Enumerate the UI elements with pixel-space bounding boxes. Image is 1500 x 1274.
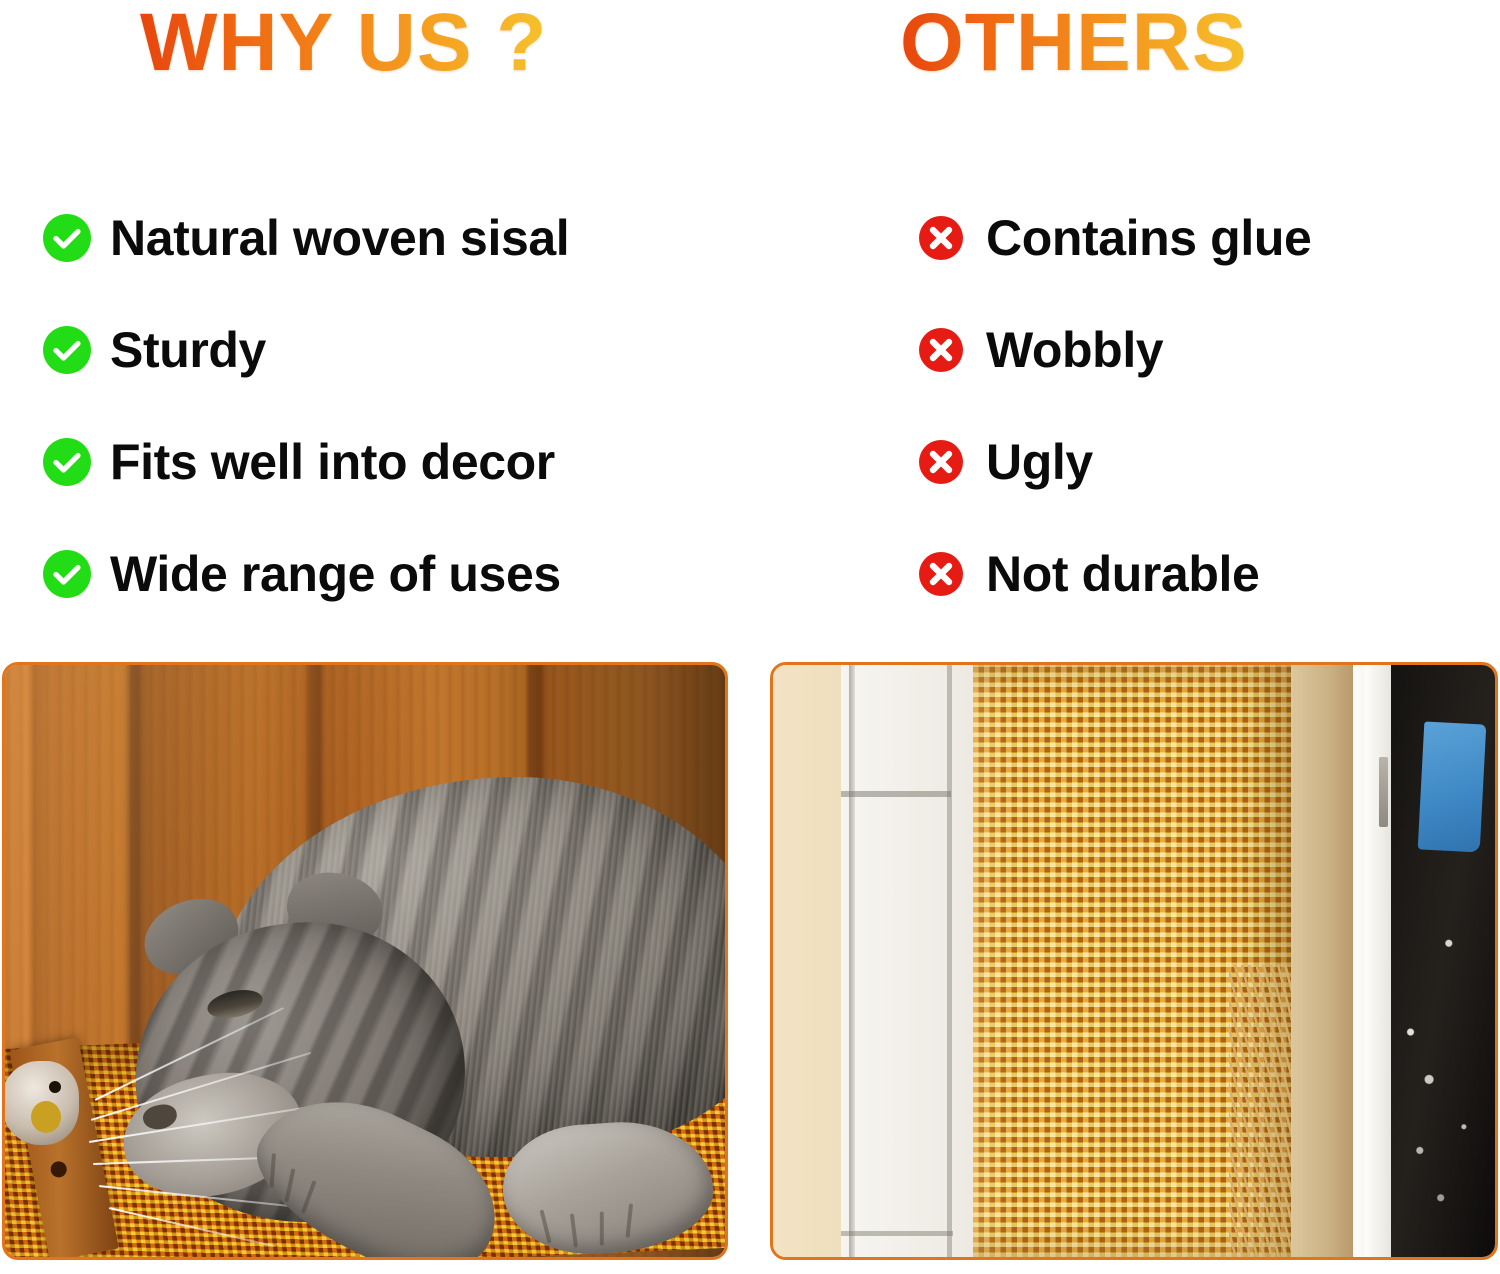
list-item: Ugly [918,406,1311,518]
list-item-label: Wide range of uses [110,549,561,599]
door-hinge [1379,757,1388,827]
cat [65,723,725,1257]
cream-wall [773,665,841,1257]
door-seam-vertical [849,665,855,1257]
list-item-label: Wobbly [986,325,1163,375]
comparison-infographic: WHY US ? Natural woven sisal Sturdy [0,0,1500,1274]
x-circle-icon [918,327,964,373]
list-item: Fits well into decor [42,406,569,518]
x-circle-icon [918,439,964,485]
x-circle-icon [918,215,964,261]
list-item-label: Not durable [986,549,1259,599]
sisal-mat-frayed [973,665,1291,1257]
column-why-us: WHY US ? Natural woven sisal Sturdy [0,0,750,650]
why-us-list: Natural woven sisal Sturdy Fits well int… [42,182,569,630]
list-item-label: Contains glue [986,213,1311,263]
check-circle-icon [42,549,92,599]
door-seam-horizontal [841,791,951,797]
blue-tape-patch [1418,721,1487,852]
list-item: Contains glue [918,182,1311,294]
door-scene [773,665,1495,1257]
check-circle-icon [42,213,92,263]
why-us-title: WHY US ? [140,2,547,84]
check-circle-icon [42,325,92,375]
why-us-photo [2,662,728,1260]
why-us-photo-content [5,665,725,1257]
list-item-label: Natural woven sisal [110,213,569,263]
others-photo-content [773,665,1495,1257]
list-item-label: Ugly [986,437,1093,487]
others-photo [770,662,1498,1260]
check-circle-icon [42,437,92,487]
door-seam-horizontal-2 [841,1231,953,1236]
list-item: Wobbly [918,294,1311,406]
list-item: Not durable [918,518,1311,630]
door-seam-vertical-2 [947,665,952,1257]
others-list: Contains glue Wobbly Ugly Not durable [918,182,1311,630]
door-frame-edge [1291,665,1353,1257]
list-item-label: Fits well into decor [110,437,555,487]
list-item: Natural woven sisal [42,182,569,294]
list-item: Sturdy [42,294,569,406]
list-item-label: Sturdy [110,325,266,375]
white-door-edge [1365,665,1391,1257]
frayed-edge [1229,965,1299,1257]
photo-row [0,662,1500,1266]
toy-eye [49,1081,61,1093]
x-circle-icon [918,551,964,597]
list-item: Wide range of uses [42,518,569,630]
others-title: OTHERS [900,2,1248,84]
